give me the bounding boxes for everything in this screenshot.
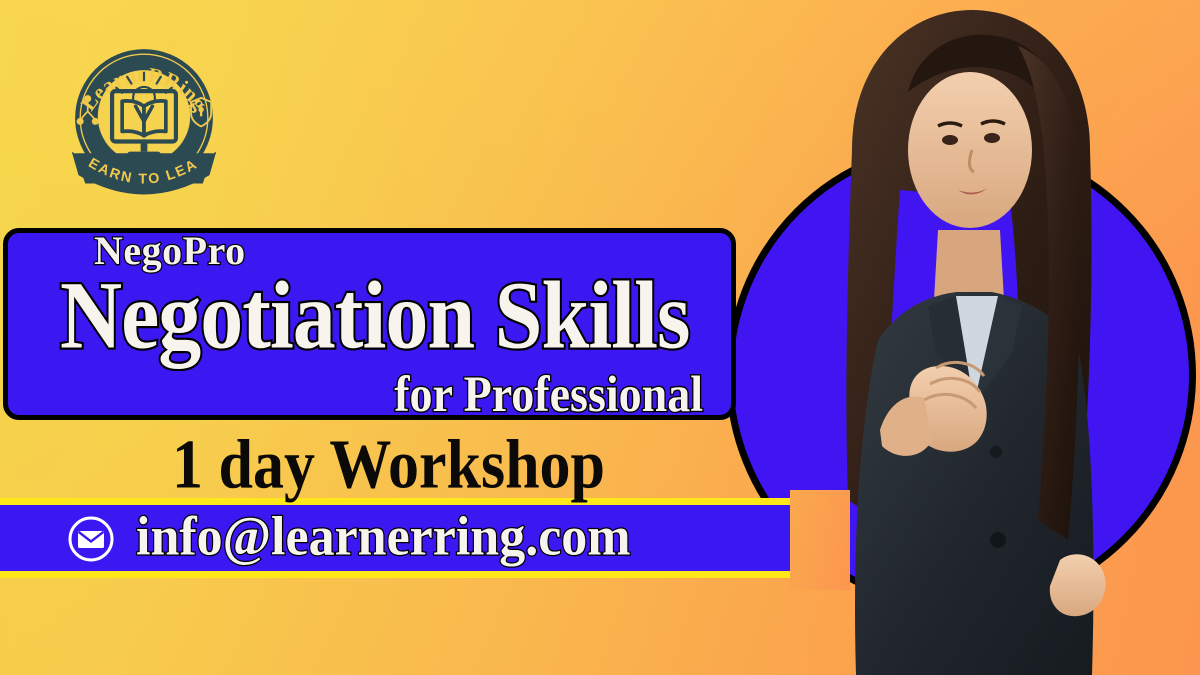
jacket-button bbox=[990, 446, 1002, 458]
contact-bar: info@learnerring.com bbox=[0, 498, 830, 578]
eye-left bbox=[942, 135, 958, 145]
face bbox=[908, 72, 1032, 228]
email-address[interactable]: info@learnerring.com bbox=[136, 506, 631, 568]
brand-logo[interactable]: LearneRRing bbox=[60, 34, 228, 202]
subhead-text: for Professional bbox=[394, 365, 703, 423]
eye-right bbox=[984, 133, 1000, 143]
contact-bar-right-fade bbox=[790, 490, 850, 590]
contact-bar-bottom-rule bbox=[0, 571, 830, 578]
jacket-button bbox=[990, 532, 1006, 548]
workshop-label: 1 day Workshop bbox=[172, 426, 605, 506]
envelope-icon bbox=[68, 516, 114, 562]
headline-text: Negotiation Skills bbox=[60, 259, 689, 371]
promo-banner: LearneRRing bbox=[0, 0, 1200, 675]
title-block: NegoPro Negotiation Skills for Professio… bbox=[3, 228, 736, 420]
